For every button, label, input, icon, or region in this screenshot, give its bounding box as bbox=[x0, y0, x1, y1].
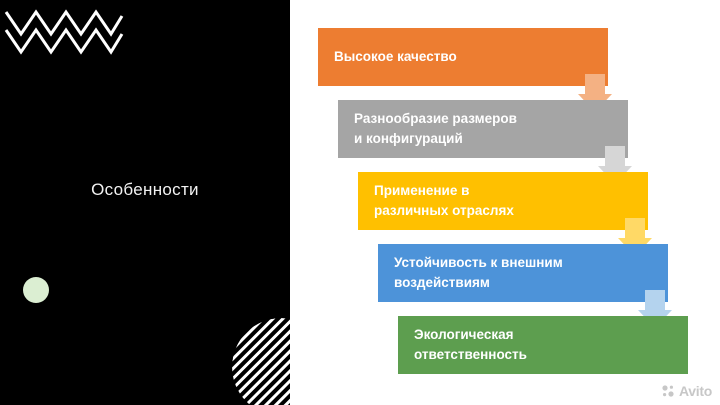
flow-step-3-label: Применение в различных отраслях bbox=[374, 181, 514, 220]
avito-watermark-label: Avito bbox=[679, 383, 712, 399]
flow-step-5-label: Экологическая ответственность bbox=[414, 325, 527, 364]
flow-step-2[interactable]: Разнообразие размеров и конфигураций bbox=[338, 100, 628, 158]
flow-step-5[interactable]: Экологическая ответственность bbox=[398, 316, 688, 374]
left-panel: Особенности bbox=[0, 0, 290, 405]
flow-step-2-label: Разнообразие размеров и конфигураций bbox=[354, 109, 517, 148]
flow-step-4[interactable]: Устойчивость к внешним воздействиям bbox=[378, 244, 668, 302]
flow-step-3[interactable]: Применение в различных отраслях bbox=[358, 172, 648, 230]
zigzag-decoration bbox=[4, 8, 124, 64]
hatched-circle-decoration bbox=[232, 318, 290, 405]
process-flow: Высокое качество Разнообразие размеров и… bbox=[290, 0, 720, 405]
avito-watermark: Avito bbox=[661, 383, 712, 399]
flow-step-1-label: Высокое качество bbox=[334, 47, 457, 67]
slide-canvas: Особенности Высокое качество Разно bbox=[0, 0, 720, 405]
flow-step-1[interactable]: Высокое качество bbox=[318, 28, 608, 86]
avito-dots-icon bbox=[661, 384, 675, 398]
page-title: Особенности bbox=[0, 180, 290, 200]
flow-step-4-label: Устойчивость к внешним воздействиям bbox=[394, 253, 563, 292]
dot-decoration bbox=[23, 277, 49, 303]
